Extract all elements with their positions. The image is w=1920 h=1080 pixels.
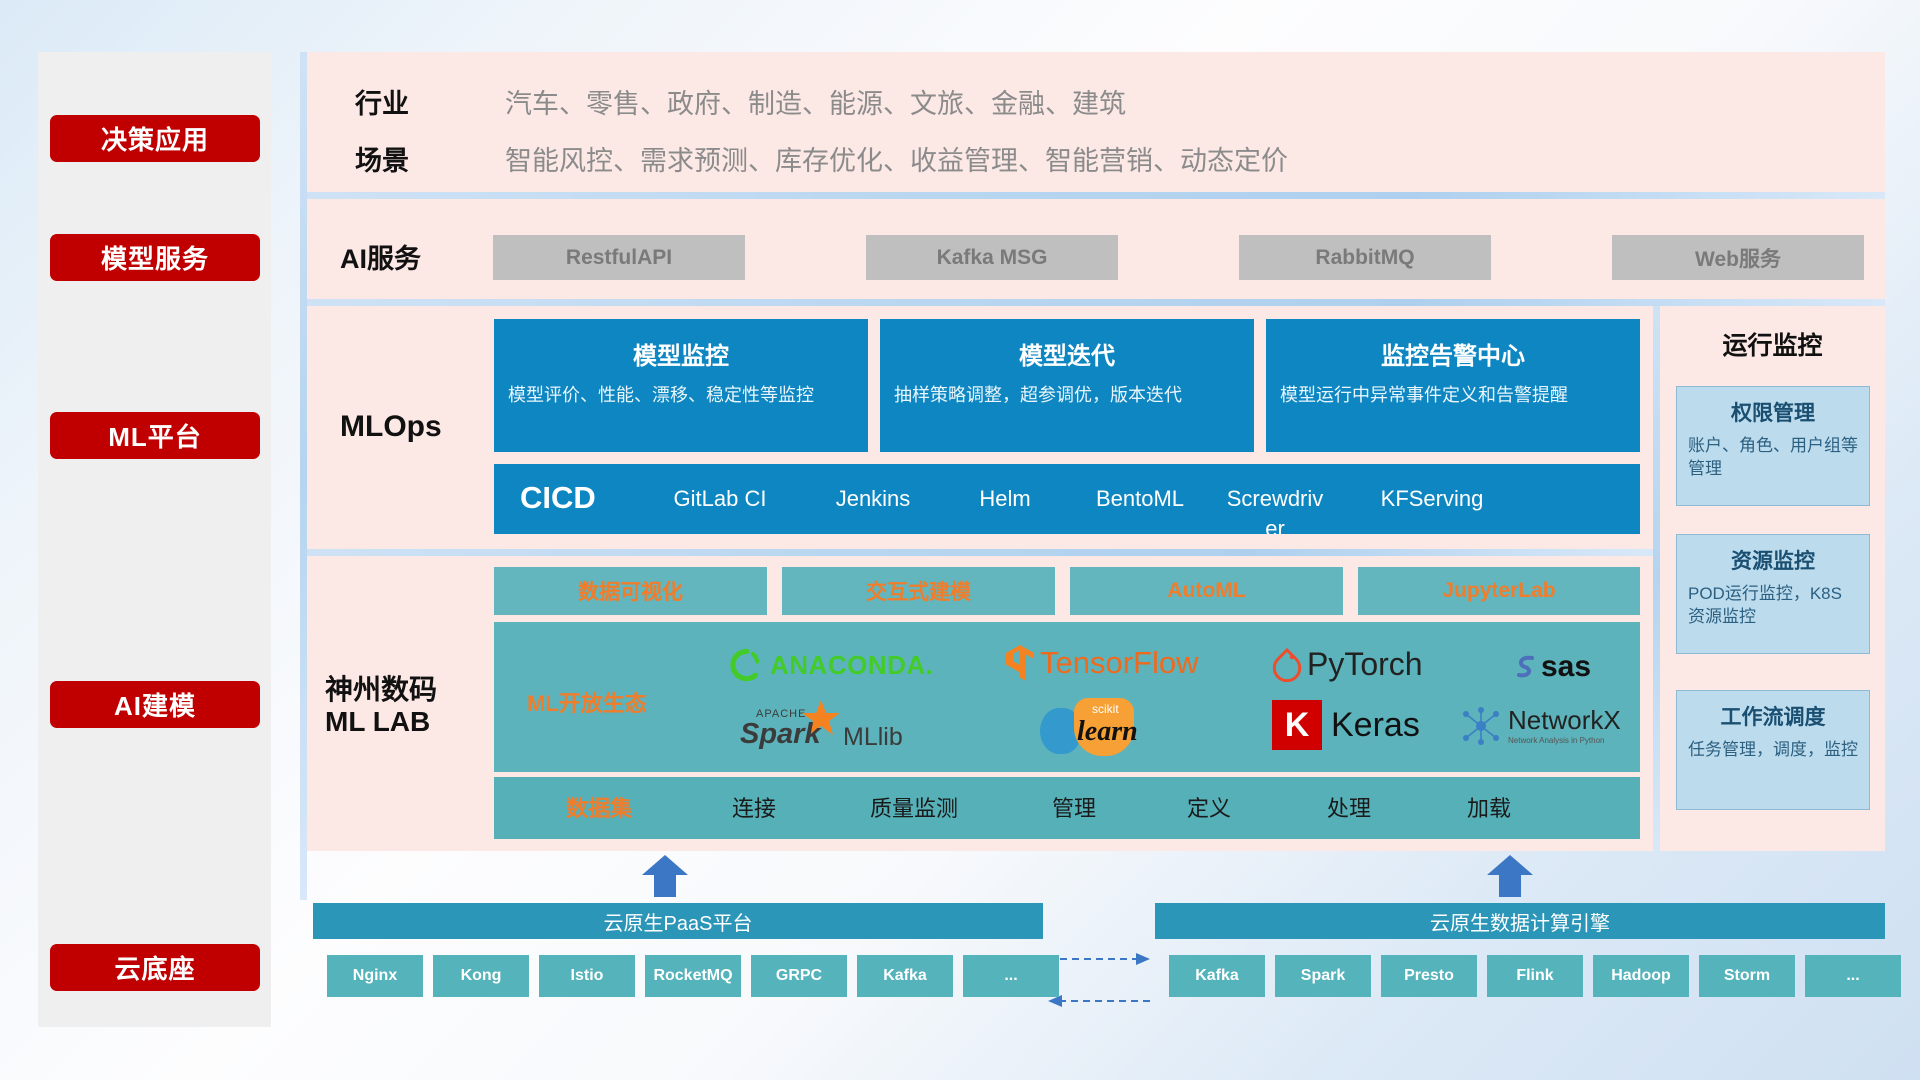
spark-mllib-logo: APACHE Spark MLlib (740, 706, 890, 754)
tool-chip-jupyterlab[interactable]: JupyterLab (1358, 567, 1640, 615)
paas-bar-label: 云原生PaaS平台 (604, 907, 753, 936)
industry-label: 行业 (355, 82, 409, 121)
tensorflow-wordmark: TensorFlow (1040, 645, 1199, 681)
panel-divider (307, 299, 1885, 306)
keras-mark-icon: K (1272, 700, 1322, 750)
cicd-item-bentoml[interactable]: BentoML (1086, 484, 1194, 514)
scikit-learn-logo: scikit learn (1040, 700, 1170, 756)
chip-label: Kafka (883, 967, 927, 985)
data-chip-spark[interactable]: Spark (1275, 955, 1371, 997)
learn-text: learn (1077, 716, 1138, 748)
cicd-label: CICD (520, 480, 596, 516)
ai-service-chip-rabbitmq[interactable]: RabbitMQ (1239, 235, 1491, 280)
tensorflow-icon (1005, 644, 1035, 682)
industry-value: 汽车、零售、政府、制造、能源、文旅、金融、建筑 (505, 82, 1126, 121)
layer-rail (38, 52, 271, 1027)
sas-icon (1510, 652, 1540, 682)
data-engine-up-arrow-icon (1485, 855, 1535, 897)
sas-wordmark: sas (1541, 650, 1591, 684)
data-chip-more[interactable]: ... (1805, 955, 1901, 997)
paas-chip-istio[interactable]: Istio (539, 955, 635, 997)
rail-item-ml-platform[interactable]: ML平台 (50, 412, 260, 459)
chip-label: ... (1846, 967, 1859, 985)
keras-logo: K Keras (1272, 700, 1420, 750)
data-chip-storm[interactable]: Storm (1699, 955, 1795, 997)
chip-label: JupyterLab (1442, 579, 1555, 603)
tensorflow-logo: TensorFlow (1005, 644, 1199, 682)
rail-label: 决策应用 (101, 120, 209, 157)
keras-mark-letter: K (1285, 706, 1310, 745)
chip-label: AutoML (1167, 579, 1245, 603)
rail-item-ai-modeling[interactable]: AI建模 (50, 681, 260, 728)
card-title: 监控告警中心 (1266, 336, 1640, 371)
rail-label: 云底座 (114, 949, 195, 986)
monitoring-card-permission[interactable]: 权限管理 账户、角色、用户组等管理 (1676, 386, 1870, 506)
chip-label: Storm (1724, 967, 1770, 985)
chip-label: 数据可视化 (578, 576, 683, 606)
ml-lab-label-line1: 神州数码 (325, 668, 437, 708)
monitoring-card-workflow[interactable]: 工作流调度 任务管理，调度，监控 (1676, 690, 1870, 810)
rail-label: 模型服务 (101, 239, 209, 276)
ai-service-chip-restfulapi[interactable]: RestfulAPI (493, 235, 745, 280)
chip-label: Kafka MSG (937, 246, 1048, 270)
chip-label: 交互式建模 (866, 576, 971, 606)
architecture-diagram: 决策应用 模型服务 ML平台 AI建模 云底座 行业 汽车、零售、政府、制造、能… (0, 0, 1920, 1080)
paas-chip-rocketmq[interactable]: RocketMQ (645, 955, 741, 997)
dataset-row: 数据集 连接 质量监测 管理 定义 处理 加载 (494, 777, 1640, 839)
chip-label: Nginx (353, 967, 397, 985)
card-title: 工作流调度 (1677, 701, 1869, 731)
mlops-card-model-iteration[interactable]: 模型迭代 抽样策略调整，超参调优，版本迭代 (880, 319, 1254, 452)
cicd-item-jenkins[interactable]: Jenkins (819, 484, 927, 514)
sas-logo: sas (1510, 650, 1591, 684)
paas-chip-grpc[interactable]: GRPC (751, 955, 847, 997)
tool-chip-automl[interactable]: AutoML (1070, 567, 1343, 615)
rail-item-model-service[interactable]: 模型服务 (50, 234, 260, 281)
monitoring-title: 运行监控 (1660, 326, 1885, 362)
cicd-item-helm[interactable]: Helm (951, 484, 1059, 514)
rail-item-decision-app[interactable]: 决策应用 (50, 115, 260, 162)
mllib-wordmark: MLlib (843, 723, 903, 752)
data-chip-hadoop[interactable]: Hadoop (1593, 955, 1689, 997)
cicd-item-gitlab-ci[interactable]: GitLab CI (666, 484, 774, 514)
anaconda-icon (730, 648, 764, 682)
chip-label: Flink (1516, 967, 1553, 985)
data-engine-bar: 云原生数据计算引擎 (1155, 903, 1885, 939)
ml-ecosystem-label: ML开放生态 (527, 686, 647, 718)
paas-chip-kafka[interactable]: Kafka (857, 955, 953, 997)
scenario-label: 场景 (355, 139, 409, 178)
networkx-logo: NetworkX Network Analysis in Python (1460, 706, 1621, 746)
rail-label: ML平台 (108, 417, 202, 454)
anaconda-logo: ANACONDA. (730, 648, 933, 682)
paas-up-arrow-icon (640, 855, 690, 897)
chip-label: ... (1004, 967, 1017, 985)
scenario-value: 智能风控、需求预测、库存优化、收益管理、智能营销、动态定价 (505, 139, 1288, 178)
chip-label: Web服务 (1695, 243, 1781, 273)
chip-label: Hadoop (1611, 967, 1671, 985)
dataset-item-process[interactable]: 处理 (1289, 791, 1409, 823)
paas-chip-kong[interactable]: Kong (433, 955, 529, 997)
dataset-item-connect[interactable]: 连接 (694, 791, 814, 823)
dataset-item-load[interactable]: 加载 (1429, 791, 1549, 823)
rail-divider (300, 52, 307, 900)
paas-chip-nginx[interactable]: Nginx (327, 955, 423, 997)
ai-service-chip-kafka-msg[interactable]: Kafka MSG (866, 235, 1118, 280)
paas-bar: 云原生PaaS平台 (313, 903, 1043, 939)
dataset-item-quality[interactable]: 质量监测 (834, 791, 994, 823)
card-title: 模型监控 (494, 336, 868, 371)
mlops-card-model-monitoring[interactable]: 模型监控 模型评价、性能、漂移、稳定性等监控 (494, 319, 868, 452)
networkx-icon (1460, 706, 1502, 746)
card-title: 权限管理 (1677, 397, 1869, 427)
data-chip-presto[interactable]: Presto (1381, 955, 1477, 997)
chip-label: RocketMQ (653, 967, 732, 985)
networkx-wordmark: NetworkX (1508, 707, 1621, 733)
card-title: 模型迭代 (880, 336, 1254, 371)
scikit-text: scikit (1092, 702, 1119, 716)
chip-label: Istio (571, 967, 604, 985)
data-chip-kafka[interactable]: Kafka (1169, 955, 1265, 997)
pytorch-icon (1272, 648, 1302, 682)
tool-chip-interactive-modeling[interactable]: 交互式建模 (782, 567, 1055, 615)
chip-label: RestfulAPI (566, 246, 672, 270)
card-desc: 任务管理，调度，监控 (1688, 738, 1858, 761)
keras-wordmark: Keras (1331, 706, 1420, 745)
rail-item-cloud-base[interactable]: 云底座 (50, 944, 260, 991)
data-chip-flink[interactable]: Flink (1487, 955, 1583, 997)
pytorch-logo: PyTorch (1272, 646, 1423, 683)
card-desc: 抽样策略调整，超参调优，版本迭代 (894, 383, 1240, 408)
pytorch-wordmark: PyTorch (1307, 646, 1423, 683)
panel-divider (307, 549, 1653, 556)
dataset-item-define[interactable]: 定义 (1149, 791, 1269, 823)
chip-label: Presto (1404, 967, 1454, 985)
card-desc: 模型运行中异常事件定义和告警提醒 (1280, 383, 1626, 408)
mlops-label: MLOps (340, 410, 442, 444)
rail-label: AI建模 (114, 686, 196, 723)
panel-divider (307, 192, 1885, 199)
cicd-bar: CICD GitLab CI Jenkins Helm BentoML Scre… (494, 464, 1640, 534)
bidirectional-dashed-arrows-icon (1046, 945, 1152, 1015)
monitoring-card-resource[interactable]: 资源监控 POD运行监控，K8S资源监控 (1676, 534, 1870, 654)
card-desc: 模型评价、性能、漂移、稳定性等监控 (508, 383, 854, 408)
chip-label: Kong (461, 967, 502, 985)
ml-lab-label-line2: ML LAB (325, 706, 430, 738)
cicd-item-kfserving[interactable]: KFServing (1378, 484, 1486, 514)
networkx-tagline: Network Analysis in Python (1508, 736, 1621, 745)
anaconda-wordmark: ANACONDA. (770, 650, 933, 681)
tool-chip-data-visualization[interactable]: 数据可视化 (494, 567, 767, 615)
card-desc: POD运行监控，K8S资源监控 (1688, 582, 1858, 628)
ai-service-chip-web-service[interactable]: Web服务 (1612, 235, 1864, 280)
card-desc: 账户、角色、用户组等管理 (1688, 434, 1858, 480)
mlops-card-alert-center[interactable]: 监控告警中心 模型运行中异常事件定义和告警提醒 (1266, 319, 1640, 452)
paas-chip-more[interactable]: ... (963, 955, 1059, 997)
spark-wordmark: Spark (740, 718, 821, 751)
data-engine-bar-label: 云原生数据计算引擎 (1430, 907, 1610, 936)
dataset-label: 数据集 (529, 791, 669, 823)
chip-label: Kafka (1195, 967, 1239, 985)
dataset-item-manage[interactable]: 管理 (1014, 791, 1134, 823)
chip-label: GRPC (776, 967, 822, 985)
cicd-item-screwdriver[interactable]: Screwdriver (1221, 484, 1329, 534)
chip-label: RabbitMQ (1315, 246, 1414, 270)
monitoring-divider (1653, 306, 1660, 851)
ai-service-label: AI服务 (340, 237, 421, 276)
chip-label: Spark (1301, 967, 1345, 985)
card-title: 资源监控 (1677, 545, 1869, 575)
